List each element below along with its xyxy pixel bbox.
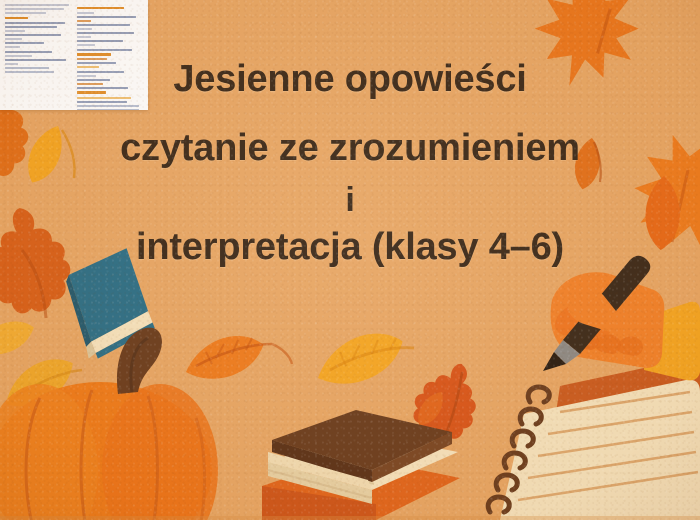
worksheet-text-line — [77, 53, 112, 56]
worksheet-text-line — [77, 87, 129, 89]
worksheet-text-line — [77, 49, 133, 51]
worksheet-text-line — [5, 30, 25, 32]
worksheet-text-line — [5, 8, 64, 10]
hand-with-pencil — [543, 256, 700, 381]
leaf-amber-top — [18, 120, 74, 188]
worksheet-text-line — [77, 58, 108, 60]
worksheet-text-line — [5, 26, 57, 28]
leaf-amber-left-upper — [0, 315, 39, 362]
worksheet-text-line — [77, 105, 140, 107]
worksheet-text-line — [5, 55, 32, 57]
worksheet-text-line — [5, 12, 46, 14]
worksheet-columns — [0, 0, 148, 110]
worksheet-text-line — [77, 79, 110, 81]
leaf-amber-center — [309, 323, 414, 395]
maple-leaf-top-right-2 — [521, 0, 653, 101]
worksheet-text-line — [77, 7, 125, 10]
worksheet-text-line — [77, 28, 93, 30]
worksheet-text-line — [77, 75, 97, 77]
spiral-notebook — [488, 356, 700, 520]
worksheet-text-line — [5, 59, 66, 61]
worksheet-text-line — [77, 109, 140, 110]
worksheet-text-line — [5, 63, 18, 65]
worksheet-preview-thumbnail[interactable] — [0, 0, 148, 110]
worksheet-text-line — [5, 71, 54, 73]
worksheet-column-right — [77, 4, 144, 106]
worksheet-text-line — [5, 42, 44, 44]
worksheet-text-line — [77, 32, 134, 34]
poster-canvas: Jesienne opowieści czytanie ze zrozumien… — [0, 0, 700, 520]
worksheet-text-line — [77, 36, 92, 38]
worksheet-text-line — [5, 38, 22, 40]
worksheet-text-line — [77, 16, 137, 18]
worksheet-text-line — [77, 66, 100, 68]
worksheet-text-line — [77, 20, 92, 22]
worksheet-column-left — [5, 4, 72, 106]
leaf-orange-center — [180, 328, 292, 387]
worksheet-text-line — [5, 17, 28, 20]
worksheet-text-line — [5, 46, 20, 48]
worksheet-text-line — [77, 71, 125, 73]
worksheet-text-line — [77, 12, 94, 14]
worksheet-text-line — [5, 34, 61, 36]
worksheet-text-line — [77, 40, 124, 42]
worksheet-text-line — [77, 62, 117, 64]
worksheet-text-line — [5, 51, 52, 53]
worksheet-text-line — [77, 83, 104, 85]
worksheet-text-line — [5, 22, 65, 24]
leaf-small-right — [570, 136, 606, 192]
pumpkin — [0, 328, 218, 520]
worksheet-text-line — [5, 4, 69, 6]
worksheet-text-line — [77, 91, 106, 94]
oak-leaf-left — [0, 202, 76, 318]
worksheet-text-line — [77, 24, 130, 26]
worksheet-text-line — [77, 101, 128, 103]
worksheet-text-line — [77, 44, 96, 46]
worksheet-text-line — [77, 97, 132, 99]
worksheet-text-line — [5, 67, 49, 69]
